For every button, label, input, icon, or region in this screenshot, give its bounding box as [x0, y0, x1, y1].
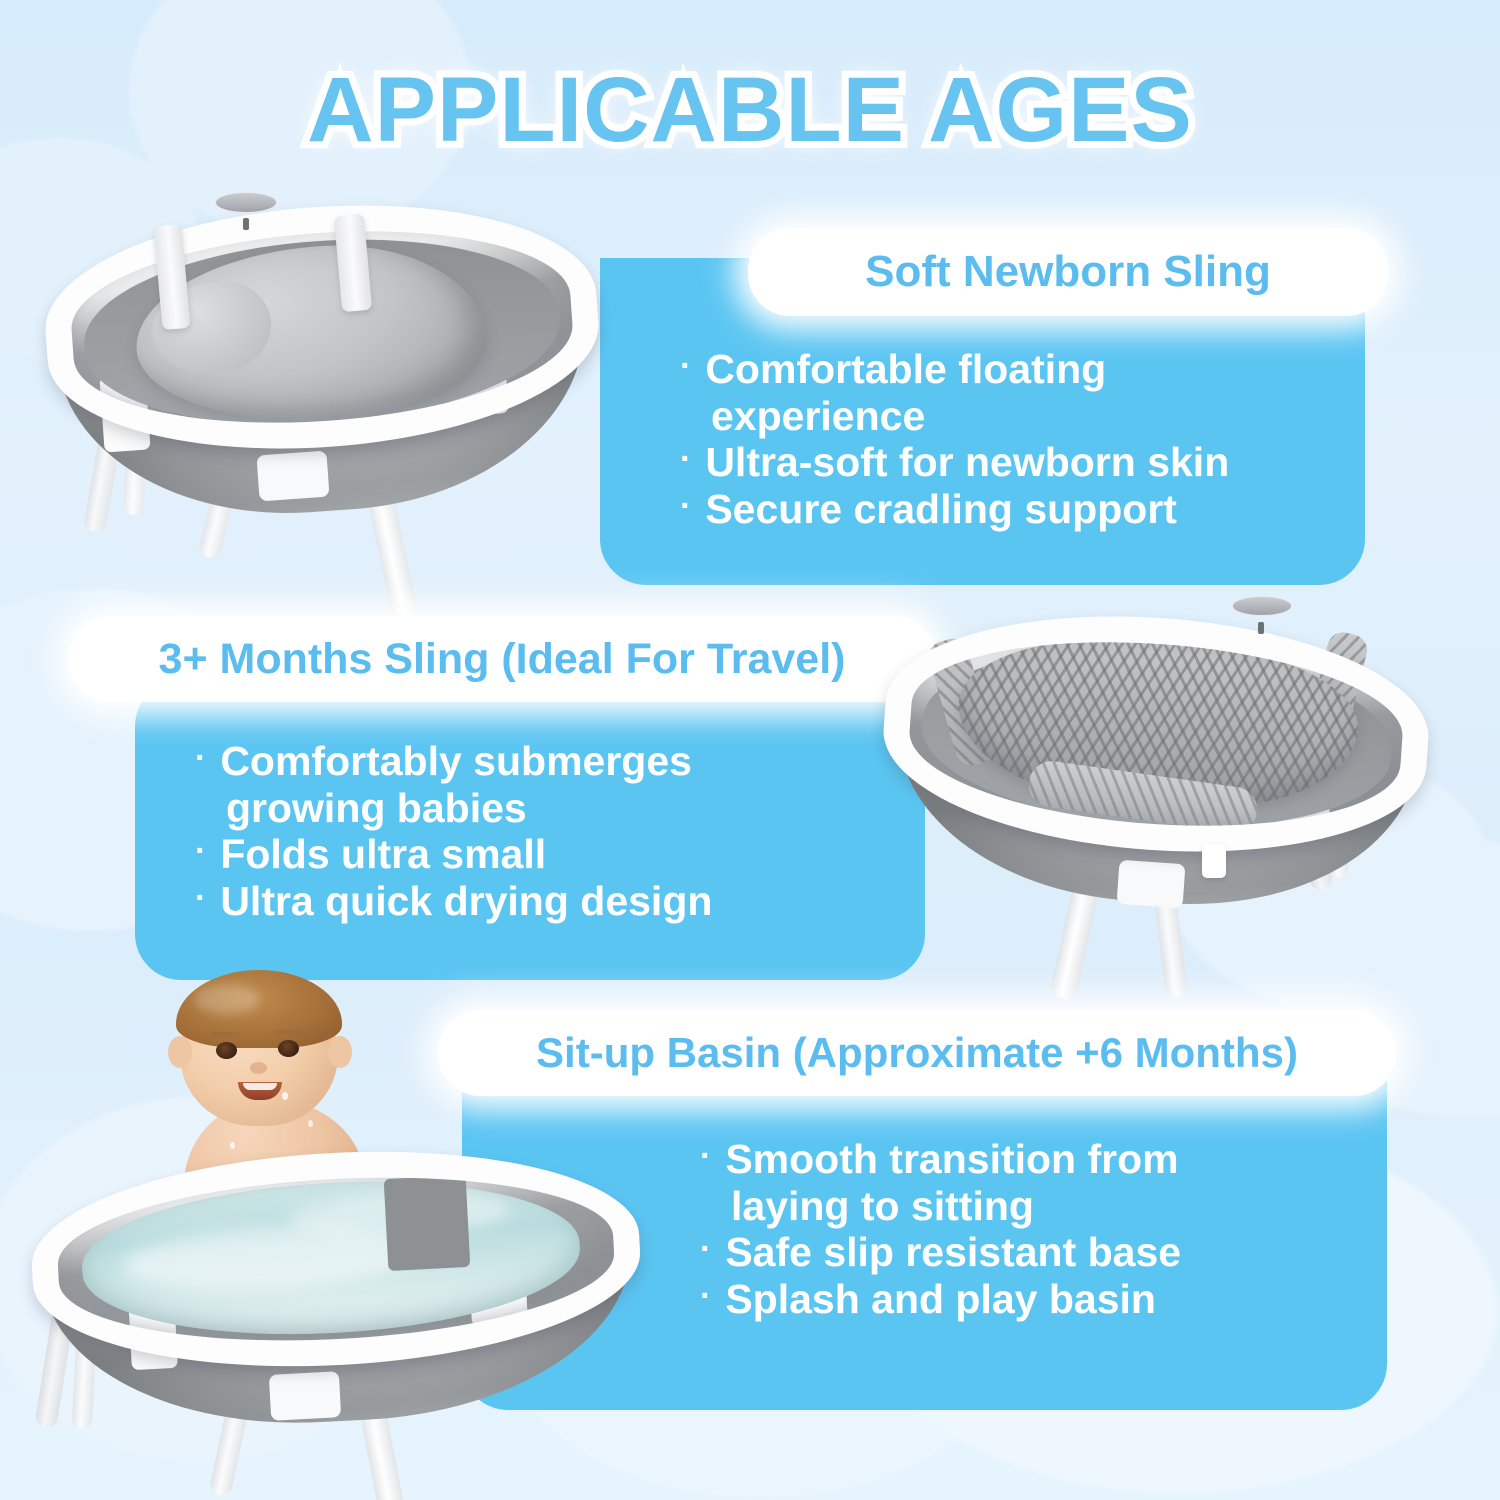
product-image-sit-up-basin-tub	[30, 1135, 670, 1465]
list-item-text: Safe slip resistant base	[725, 1229, 1181, 1276]
list-item: · Ultra quick drying design	[195, 878, 895, 925]
product-image-newborn-sling-tub	[40, 185, 620, 615]
section-1-heading-pill: Soft Newborn Sling	[748, 228, 1388, 316]
bullet-dot-icon: ·	[195, 878, 206, 919]
bullet-dot-icon: ·	[700, 1229, 711, 1270]
baby-eye-left	[216, 1042, 237, 1059]
section-2-bullet-list: · Comfortably submerges growing babies ·…	[195, 738, 895, 925]
tub-panel-patch	[256, 451, 329, 502]
bullet-dot-icon: ·	[680, 346, 691, 387]
section-3-heading: Sit-up Basin (Approximate +6 Months)	[536, 1029, 1298, 1077]
drain-plug-icon	[1258, 622, 1264, 634]
list-item-text: Secure cradling support	[705, 486, 1177, 533]
list-item-text: Comfortable floating	[705, 346, 1106, 393]
baby-nose	[250, 1062, 267, 1074]
baby-eyebrow-right	[274, 1030, 302, 1035]
list-item: · Smooth transition from	[700, 1136, 1380, 1183]
brand-logo-badge	[1232, 596, 1292, 616]
section-2-heading-pill: 3+ Months Sling (Ideal For Travel)	[68, 616, 936, 702]
list-item-text: Ultra quick drying design	[220, 878, 712, 925]
list-item: · Ultra-soft for newborn skin	[680, 439, 1340, 486]
section-1-bullet-list: · Comfortable floating experience · Ultr…	[680, 346, 1340, 533]
list-item: · Safe slip resistant base	[700, 1229, 1380, 1276]
list-item-text: Splash and play basin	[725, 1276, 1156, 1323]
baby-hair	[176, 970, 342, 1048]
baby-ear-left	[168, 1036, 192, 1068]
list-item: · Comfortable floating	[680, 346, 1340, 393]
brand-logo-badge	[215, 192, 277, 213]
water-droplet	[308, 1120, 313, 1127]
list-item-text: Comfortably submerges	[220, 738, 692, 785]
bullet-dot-icon: ·	[680, 439, 691, 480]
drain-plug-icon	[243, 218, 249, 230]
list-item-text: Folds ultra small	[220, 831, 546, 878]
page-title-wrapper: APPLICABLE AGES	[0, 58, 1500, 163]
sling-clip	[1202, 844, 1226, 878]
section-2-heading: 3+ Months Sling (Ideal For Travel)	[159, 635, 846, 684]
list-item-continuation: growing babies	[195, 785, 895, 832]
bullet-dot-icon: ·	[700, 1276, 711, 1317]
list-item: · Secure cradling support	[680, 486, 1340, 533]
tub-panel-patch	[1117, 860, 1186, 908]
bullet-dot-icon: ·	[195, 738, 206, 779]
bullet-dot-icon: ·	[680, 486, 691, 527]
list-item-continuation: experience	[680, 393, 1340, 440]
list-item: · Folds ultra small	[195, 831, 895, 878]
page-title: APPLICABLE AGES	[307, 58, 1193, 163]
section-1-heading: Soft Newborn Sling	[865, 247, 1271, 297]
bullet-dot-icon: ·	[195, 831, 206, 872]
infographic-canvas: APPLICABLE AGES Soft Newborn Sling · Com…	[0, 0, 1500, 1500]
list-item: · Comfortably submerges	[195, 738, 895, 785]
bullet-dot-icon: ·	[700, 1136, 711, 1177]
list-item-text: Ultra-soft for newborn skin	[705, 439, 1229, 486]
list-item: · Splash and play basin	[700, 1276, 1380, 1323]
water-droplet	[282, 1092, 288, 1100]
baby-eye-right	[278, 1040, 299, 1057]
baby-eyebrow-left	[212, 1032, 240, 1037]
product-image-mesh-sling-tub	[880, 592, 1460, 992]
section-3-heading-pill: Sit-up Basin (Approximate +6 Months)	[438, 1010, 1396, 1096]
section-3-bullet-list: · Smooth transition from laying to sitti…	[700, 1136, 1380, 1323]
list-item-continuation: laying to sitting	[700, 1183, 1380, 1230]
tub-panel-patch	[269, 1371, 341, 1421]
baby-ear-right	[328, 1036, 352, 1068]
list-item-text: Smooth transition from	[725, 1136, 1178, 1183]
